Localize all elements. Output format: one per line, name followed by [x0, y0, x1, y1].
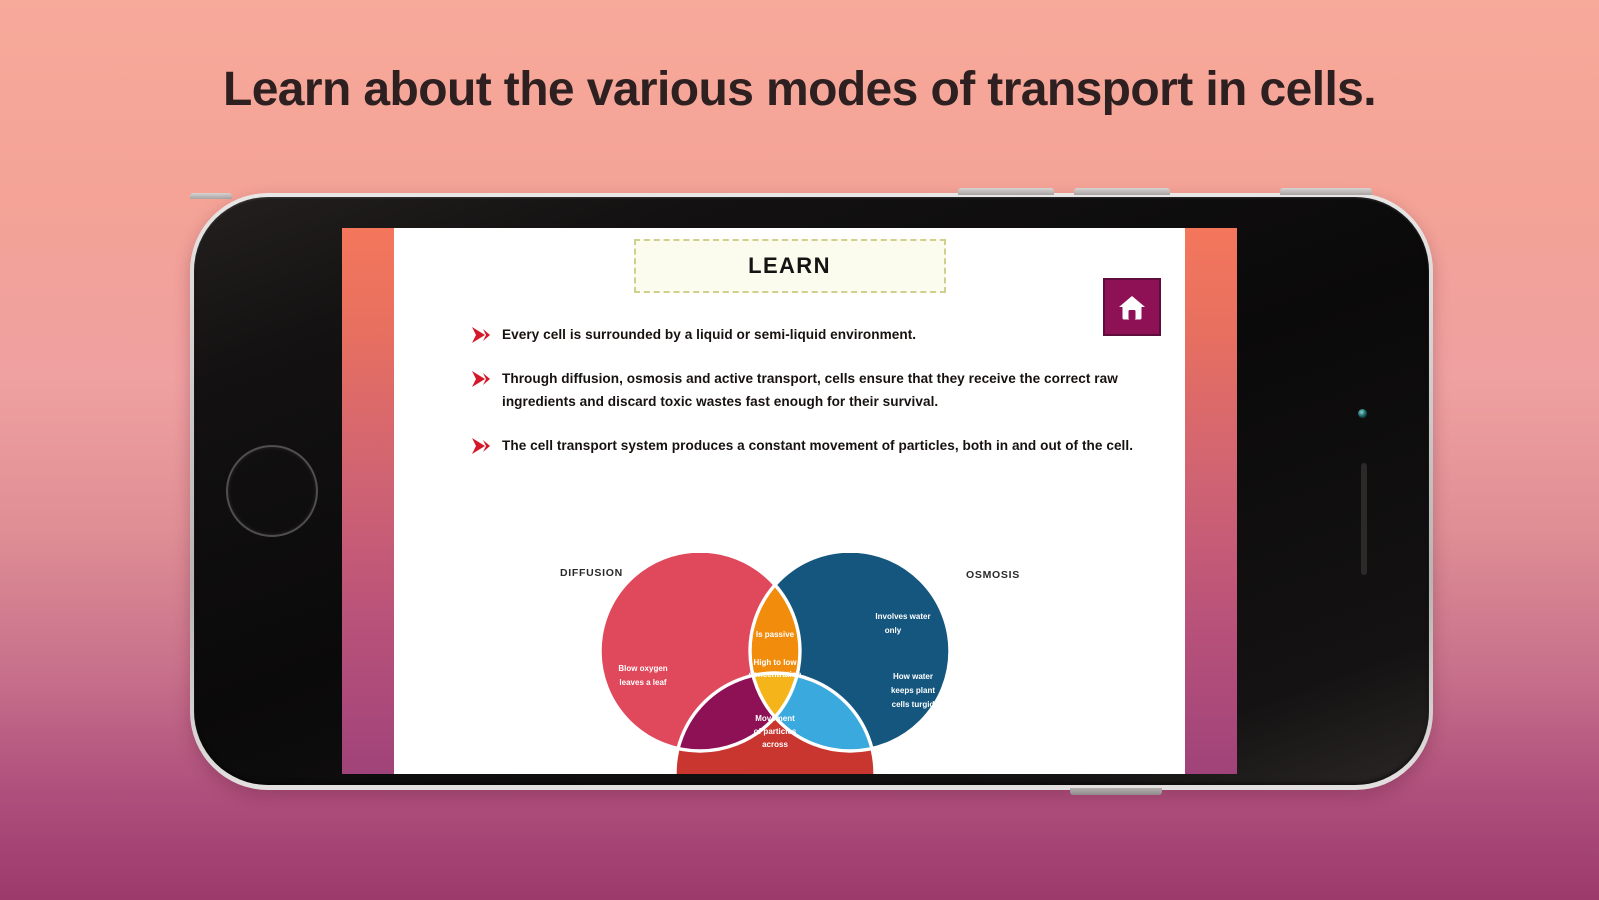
- venn-text-center-1: Movement: [755, 714, 795, 723]
- phone-body: LEARN Every cell is surrounded by a liqu…: [194, 197, 1429, 785]
- page-title: Learn about the various modes of transpo…: [0, 62, 1599, 117]
- learn-banner: LEARN: [634, 239, 946, 293]
- venn-diagram: DIFFUSION OSMOSIS: [394, 553, 1185, 774]
- venn-text-diffusion: Blow oxygen: [618, 664, 667, 673]
- home-icon: [1117, 293, 1147, 321]
- list-item-text: Through diffusion, osmosis and active tr…: [502, 368, 1149, 413]
- venn-text-overlap-ab-3: concentration: [748, 670, 801, 679]
- venn-text-diffusion-2: leaves a leaf: [619, 678, 666, 687]
- home-circle-button[interactable]: [226, 445, 318, 537]
- learn-banner-label: LEARN: [748, 253, 831, 279]
- lesson-page: LEARN Every cell is surrounded by a liqu…: [394, 228, 1185, 774]
- front-camera-icon: [1358, 409, 1367, 418]
- list-item-text: Every cell is surrounded by a liquid or …: [502, 324, 916, 346]
- page-side-strip-left: [342, 228, 394, 774]
- phone-screen: LEARN Every cell is surrounded by a liqu…: [342, 228, 1237, 774]
- venn-text-osmosis-1: Involves water: [875, 612, 930, 621]
- power-button[interactable]: [1280, 188, 1372, 195]
- venn-text-overlap-ab-2: High to low: [753, 658, 797, 667]
- volume-up-button[interactable]: [958, 188, 1054, 195]
- red-arrow-bullet-icon: [471, 326, 491, 344]
- list-item-text: The cell transport system produces a con…: [502, 435, 1133, 457]
- bullet-list: Every cell is surrounded by a liquid or …: [471, 324, 1149, 480]
- home-button[interactable]: [1103, 278, 1161, 336]
- venn-text-center-3: across: [762, 740, 788, 749]
- venn-text-osmosis-3: How water: [892, 672, 932, 681]
- venn-label-osmosis: OSMOSIS: [966, 569, 1020, 581]
- venn-text-osmosis-2: only: [884, 626, 901, 635]
- volume-down-button[interactable]: [1074, 188, 1170, 195]
- venn-diagram-svg: Blow oxygen leaves a leaf Is passive Hig…: [395, 553, 1185, 774]
- earpiece-speaker: [1361, 463, 1367, 575]
- mute-switch[interactable]: [190, 193, 232, 199]
- list-item: Through diffusion, osmosis and active tr…: [471, 368, 1149, 413]
- list-item: The cell transport system produces a con…: [471, 435, 1149, 457]
- venn-label-diffusion: DIFFUSION: [560, 567, 623, 579]
- venn-text-overlap-ab-1: Is passive: [755, 630, 794, 639]
- charging-port: [1070, 788, 1162, 795]
- venn-text-center-2: of particles: [753, 727, 796, 736]
- list-item: Every cell is surrounded by a liquid or …: [471, 324, 1149, 346]
- screenshot-stage: Learn about the various modes of transpo…: [0, 0, 1599, 900]
- phone-device: LEARN Every cell is surrounded by a liqu…: [190, 193, 1433, 790]
- venn-text-osmosis-5: cells turgid: [891, 700, 934, 709]
- red-arrow-bullet-icon: [471, 370, 491, 388]
- venn-text-osmosis-4: keeps plant: [890, 686, 934, 695]
- page-side-strip-right: [1185, 228, 1237, 774]
- red-arrow-bullet-icon: [471, 437, 491, 455]
